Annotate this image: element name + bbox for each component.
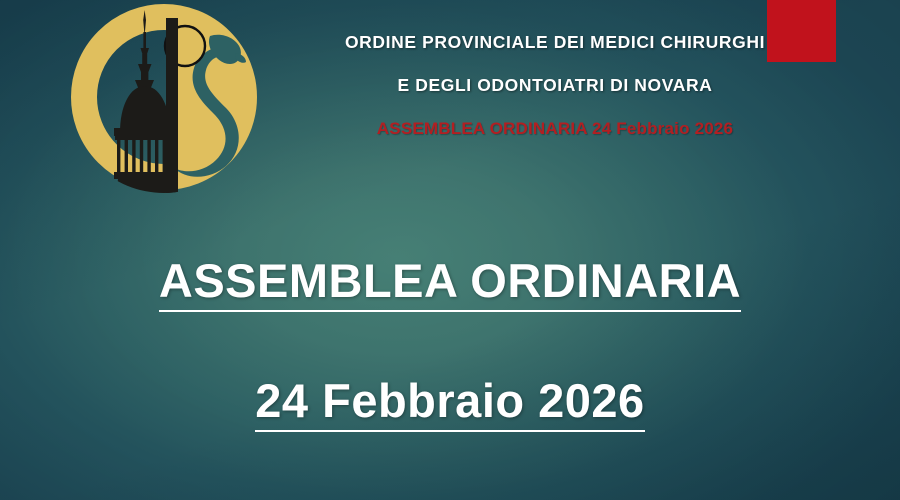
presentation-slide: ORDINE PROVINCIALE DEI MEDICI CHIRURGHI …	[0, 0, 900, 500]
ordine-medici-novara-logo	[60, 0, 268, 203]
header-text-block: ORDINE PROVINCIALE DEI MEDICI CHIRURGHI …	[275, 20, 835, 139]
header-line-organization: ORDINE PROVINCIALE DEI MEDICI CHIRURGHI	[275, 32, 835, 53]
date-title-container: 24 Febbraio 2026	[0, 375, 900, 432]
header-line-city: E DEGLI ODONTOIATRI DI NOVARA	[275, 75, 835, 96]
main-title-container: ASSEMBLEA ORDINARIA	[0, 255, 900, 312]
page-title: ASSEMBLEA ORDINARIA	[159, 255, 741, 312]
page-subtitle-date: 24 Febbraio 2026	[255, 375, 644, 432]
header-line-event: ASSEMBLEA ORDINARIA 24 Febbraio 2026	[275, 119, 835, 139]
